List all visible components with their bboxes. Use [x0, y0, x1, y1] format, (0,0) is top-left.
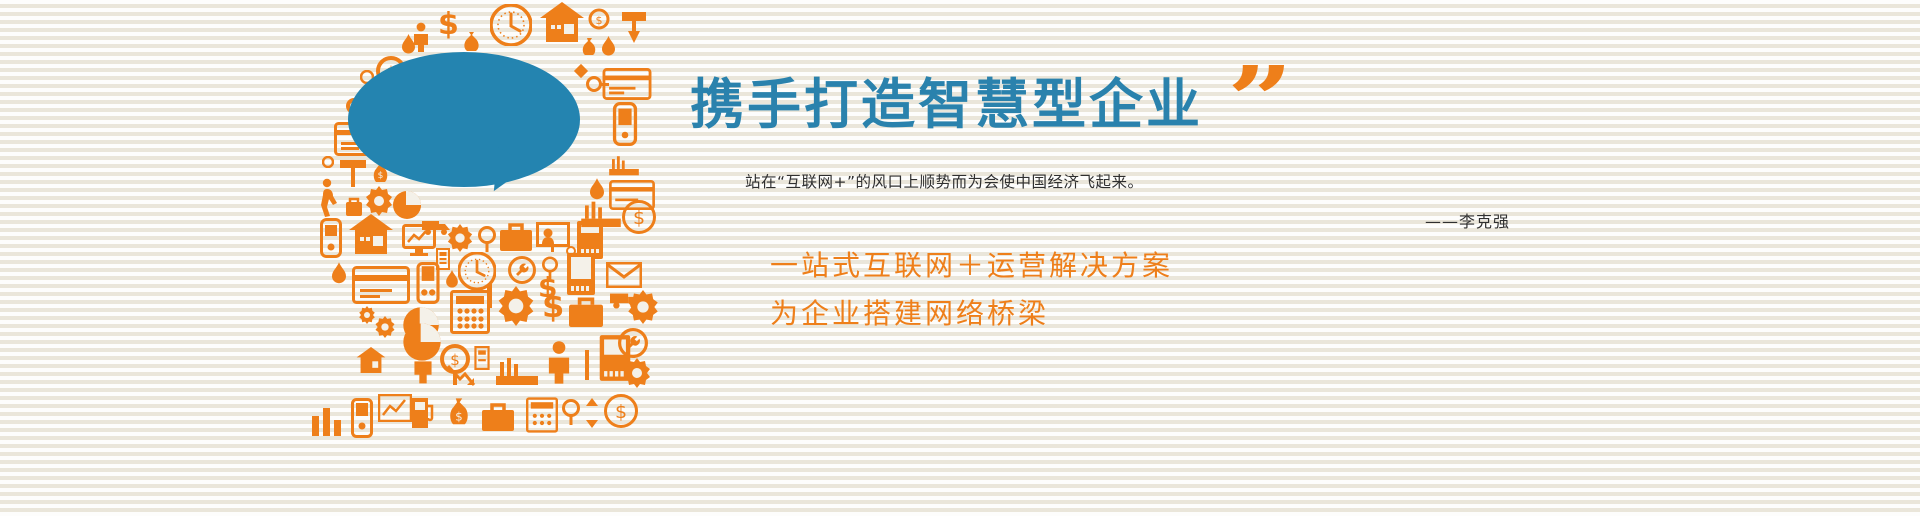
flame-icon [332, 262, 346, 284]
circle-icon [566, 246, 576, 256]
svg-text:$: $ [596, 14, 603, 27]
clock-icon [490, 4, 532, 46]
gear-icon [364, 186, 394, 216]
dollar-circle-icon: $ [622, 200, 656, 234]
paint-roller-icon [620, 10, 648, 44]
presentation-icon [536, 222, 570, 252]
magnifier-icon [586, 76, 610, 94]
wrench-circle-icon [508, 256, 536, 284]
person-icon [546, 340, 572, 384]
quote-mark-icon: ” [1227, 72, 1293, 129]
magnifier-icon [478, 226, 496, 252]
flame-icon [602, 36, 615, 56]
money-bag-icon: $ [448, 398, 470, 426]
gear-icon [626, 290, 660, 324]
head-silhouette-artwork: $ $ $ [250, 0, 680, 516]
circle-icon [322, 156, 334, 168]
svg-text:$: $ [378, 171, 384, 181]
speech-bubble-tail [494, 147, 532, 194]
mobile-phone-icon [350, 398, 374, 438]
magnifier-icon [562, 398, 580, 426]
briefcase-icon [498, 220, 534, 252]
money-bag-icon [582, 38, 597, 56]
factory-icon [496, 352, 538, 386]
headline-row: 携手打造智慧型企业 ” [690, 78, 1280, 132]
person-walking-icon [318, 178, 344, 218]
svg-text:$: $ [615, 401, 627, 423]
page-title: 携手打造智慧型企业 [690, 78, 1203, 132]
dollar-sign-icon: $ [538, 274, 557, 302]
subtitle-quote: 站在“互联网+”的风口上顺势而为会使中国经济飞起来。 [745, 170, 1144, 192]
envelope-icon [606, 262, 642, 288]
chart-down-icon [446, 364, 476, 390]
money-bag-icon [463, 32, 480, 52]
svg-text:$: $ [633, 207, 645, 229]
mobile-phone-icon [320, 218, 342, 258]
gear-icon [496, 286, 536, 326]
banner-copy: 携手打造智慧型企业 ” 站在“互联网+”的风口上顺势而为会使中国经济飞起来。 —… [690, 0, 1870, 516]
briefcase-icon [478, 400, 518, 432]
factory-icon [608, 152, 640, 176]
calculator-icon [526, 396, 558, 434]
document-icon [474, 346, 490, 370]
gear-icon [374, 316, 396, 338]
quote-attribution: ——李克强 [690, 208, 1510, 232]
vending-machine-icon [566, 252, 596, 296]
person-icon [412, 346, 434, 384]
dollar-sign-icon: $ [438, 10, 459, 40]
gear-icon [446, 224, 474, 252]
diamond-icon [584, 398, 600, 428]
factory-icon [580, 196, 622, 228]
mobile-phone-icon [416, 262, 440, 304]
gear-icon [622, 358, 652, 388]
flame-icon [446, 270, 458, 288]
house-icon [348, 214, 394, 254]
bar-chart-icon [310, 402, 344, 436]
bar-chart-icon [484, 284, 496, 308]
chart-up-icon [378, 394, 412, 422]
svg-text:$: $ [455, 409, 462, 423]
pie-chart-icon [392, 190, 422, 220]
dollar-circle-icon: $ [604, 394, 638, 428]
bar-chart-icon [580, 350, 594, 380]
flame-icon [402, 34, 415, 54]
house-icon [356, 346, 386, 374]
credit-card-icon [352, 266, 410, 304]
gas-pump-icon [410, 394, 436, 430]
tagline-secondary: 为企业搭建网络桥梁 [770, 292, 1049, 332]
mobile-phone-icon [612, 102, 638, 146]
promo-banner: $ $ $ [0, 0, 1920, 516]
house-icon [540, 2, 585, 42]
speech-bubble [348, 52, 580, 187]
briefcase-icon [566, 294, 606, 328]
wrench-circle-icon [618, 328, 648, 358]
magnifier-dollar-icon: $ [588, 8, 610, 30]
tagline-primary: 一站式互联网＋运营解决方案 [770, 244, 1173, 284]
